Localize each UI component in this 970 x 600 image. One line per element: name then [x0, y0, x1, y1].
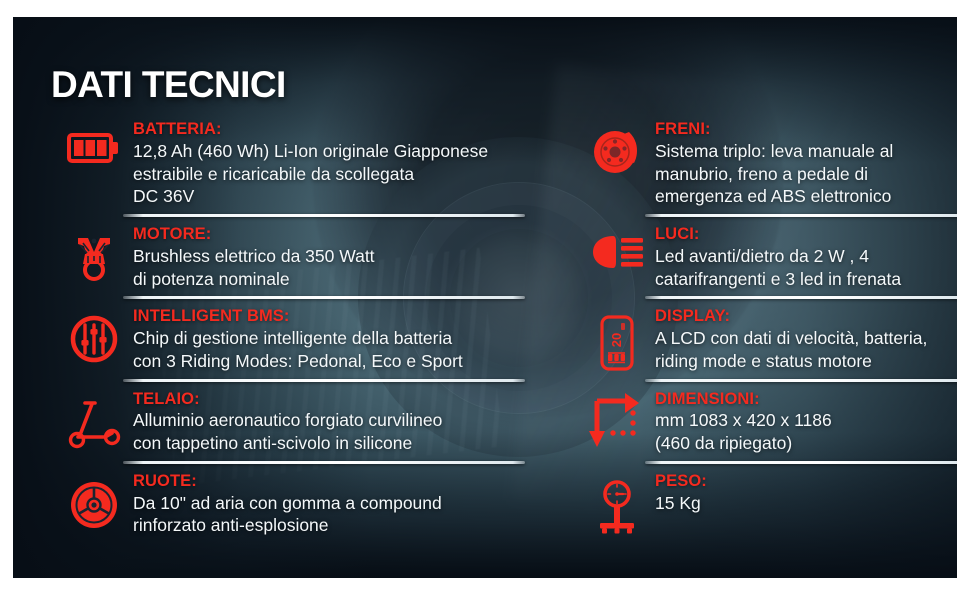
spec-label: PESO: [655, 471, 957, 492]
row-divider [645, 379, 957, 382]
tech-spec-poster: DATI TECNICI BATTERIA: 12,8 Ah (460 Wh) … [13, 17, 957, 578]
row-divider [645, 214, 957, 217]
page-title: DATI TECNICI [51, 64, 286, 106]
spec-row-batteria: BATTERIA: 12,8 Ah (460 Wh) Li-Ion origin… [55, 117, 525, 208]
spec-text-display: DISPLAY: A LCD con dati di velocità, bat… [655, 304, 957, 372]
spec-label: DISPLAY: [655, 306, 957, 327]
spec-body: Alluminio aeronautico forgiato curviline… [133, 409, 525, 455]
battery-icon [55, 117, 133, 169]
row-divider [123, 461, 525, 464]
bms-sliders-icon [55, 304, 133, 364]
spec-text-intelligent-bms: INTELLIGENT BMS: Chip di gestione intell… [133, 304, 525, 372]
spec-body: 12,8 Ah (460 Wh) Li-Ion originale Giappo… [133, 140, 525, 208]
spec-text-freni: FRENI: Sistema triplo: leva manuale al m… [655, 117, 957, 208]
spec-label: RUOTE: [133, 471, 525, 492]
spec-body: Chip di gestione intelligente della batt… [133, 327, 525, 373]
lcd-speed-value: 20 [609, 333, 624, 347]
lcd-display-icon: 20 [579, 304, 655, 372]
spec-row-dimensioni: DIMENSIONI: mm 1083 x 420 x 1186 (460 da… [579, 387, 957, 455]
spec-label: MOTORE: [133, 224, 525, 245]
wheel-icon [55, 469, 133, 531]
spec-row-display: 20 DISPLAY: A LCD con dati di velocità, … [579, 304, 957, 372]
spec-label: DIMENSIONI: [655, 389, 957, 410]
spec-body: Brushless elettrico da 350 Watt di poten… [133, 245, 525, 291]
row-divider [123, 296, 525, 299]
spec-body: A LCD con dati di velocità, batteria, ri… [655, 327, 957, 373]
row-divider [645, 296, 957, 299]
spec-text-luci: LUCI: Led avanti/dietro da 2 W , 4 catar… [655, 222, 957, 290]
spec-row-telaio: TELAIO: Alluminio aeronautico forgiato c… [55, 387, 525, 455]
spec-text-ruote: RUOTE: Da 10" ad aria con gomma a compou… [133, 469, 525, 537]
spec-body: Led avanti/dietro da 2 W , 4 catarifrang… [655, 245, 957, 291]
spec-text-telaio: TELAIO: Alluminio aeronautico forgiato c… [133, 387, 525, 455]
dimensions-arrow-icon [579, 387, 655, 449]
spec-text-motore: MOTORE: Brushless elettrico da 350 Watt … [133, 222, 525, 290]
spec-row-ruote: RUOTE: Da 10" ad aria con gomma a compou… [55, 469, 525, 537]
spec-label: LUCI: [655, 224, 957, 245]
spec-label: FRENI: [655, 119, 957, 140]
spec-text-dimensioni: DIMENSIONI: mm 1083 x 420 x 1186 (460 da… [655, 387, 957, 455]
spec-label: TELAIO: [133, 389, 525, 410]
spec-row-peso: PESO: 15 Kg [579, 469, 957, 535]
row-divider [123, 379, 525, 382]
spec-label: BATTERIA: [133, 119, 525, 140]
spec-row-freni: FRENI: Sistema triplo: leva manuale al m… [579, 117, 957, 208]
spec-body: mm 1083 x 420 x 1186 (460 da ripiegato) [655, 409, 957, 455]
spec-row-motore: MOTORE: Brushless elettrico da 350 Watt … [55, 222, 525, 290]
spec-text-peso: PESO: 15 Kg [655, 469, 957, 515]
spec-body: Sistema triplo: leva manuale al manubrio… [655, 140, 957, 208]
spec-text-batteria: BATTERIA: 12,8 Ah (460 Wh) Li-Ion origin… [133, 117, 525, 208]
spec-row-luci: LUCI: Led avanti/dietro da 2 W , 4 catar… [579, 222, 957, 290]
row-divider [123, 214, 525, 217]
row-divider [645, 461, 957, 464]
right-spec-column: FRENI: Sistema triplo: leva manuale al m… [579, 117, 957, 535]
spec-row-intelligent-bms: INTELLIGENT BMS: Chip di gestione intell… [55, 304, 525, 372]
headlight-icon [579, 222, 655, 272]
left-spec-column: BATTERIA: 12,8 Ah (460 Wh) Li-Ion origin… [55, 117, 525, 537]
weight-scale-icon [579, 469, 655, 535]
spec-body: Da 10" ad aria con gomma a compound rinf… [133, 492, 525, 538]
spec-body: 15 Kg [655, 492, 957, 515]
brake-disc-icon [579, 117, 655, 177]
engine-icon [55, 222, 133, 282]
spec-label: INTELLIGENT BMS: [133, 306, 525, 327]
scooter-icon [55, 387, 133, 449]
